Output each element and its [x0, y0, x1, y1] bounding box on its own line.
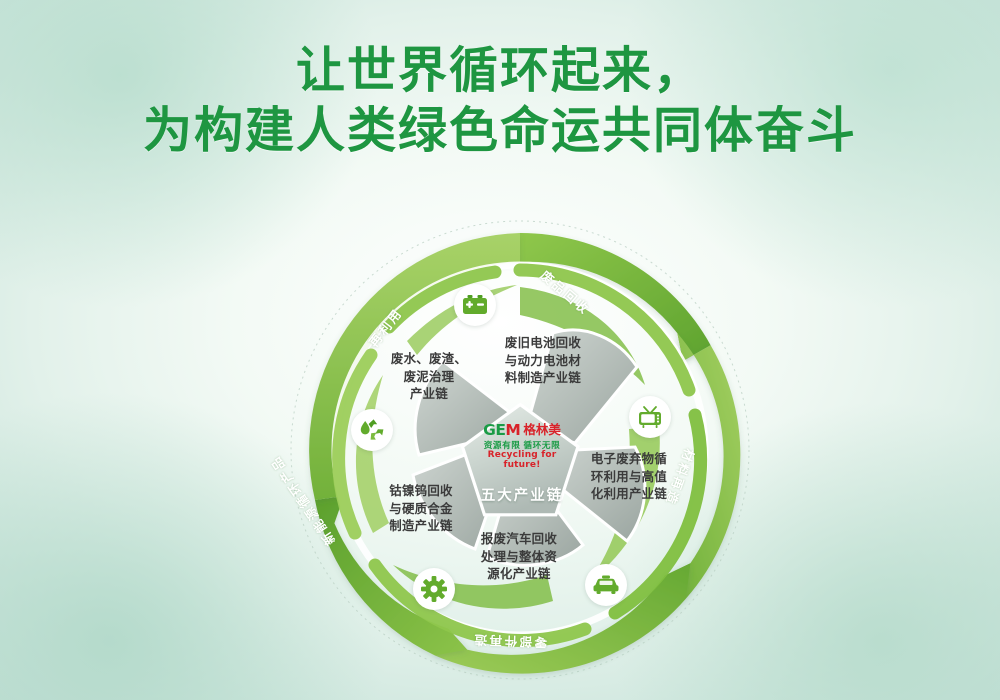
- icon-bubble-battery[interactable]: [454, 284, 496, 326]
- battery-icon: [462, 294, 488, 316]
- car-icon: [592, 575, 620, 595]
- icon-bubble-water-recycle[interactable]: [351, 409, 393, 451]
- icon-bubble-gear[interactable]: [413, 568, 455, 610]
- diagram-svg: [285, 215, 755, 685]
- icon-bubble-car[interactable]: [585, 564, 627, 606]
- water-recycle-icon: [358, 417, 386, 443]
- page-title: 让世界循环起来， 为构建人类绿色命运共同体奋斗: [0, 42, 1000, 162]
- circular-industry-chain-diagram: 废品回收 材料再造 零部件再造 新能源循环产品 再利用 废旧电池回收 与动力电池…: [285, 215, 755, 685]
- infographic-canvas: 让世界循环起来， 为构建人类绿色命运共同体奋斗: [0, 0, 1000, 700]
- page-title-line-2: 为构建人类绿色命运共同体奋斗: [0, 102, 1000, 162]
- tv-icon: [637, 405, 663, 429]
- gear-icon: [421, 576, 447, 602]
- icon-bubble-tv[interactable]: [629, 396, 671, 438]
- page-title-line-1: 让世界循环起来，: [0, 42, 1000, 102]
